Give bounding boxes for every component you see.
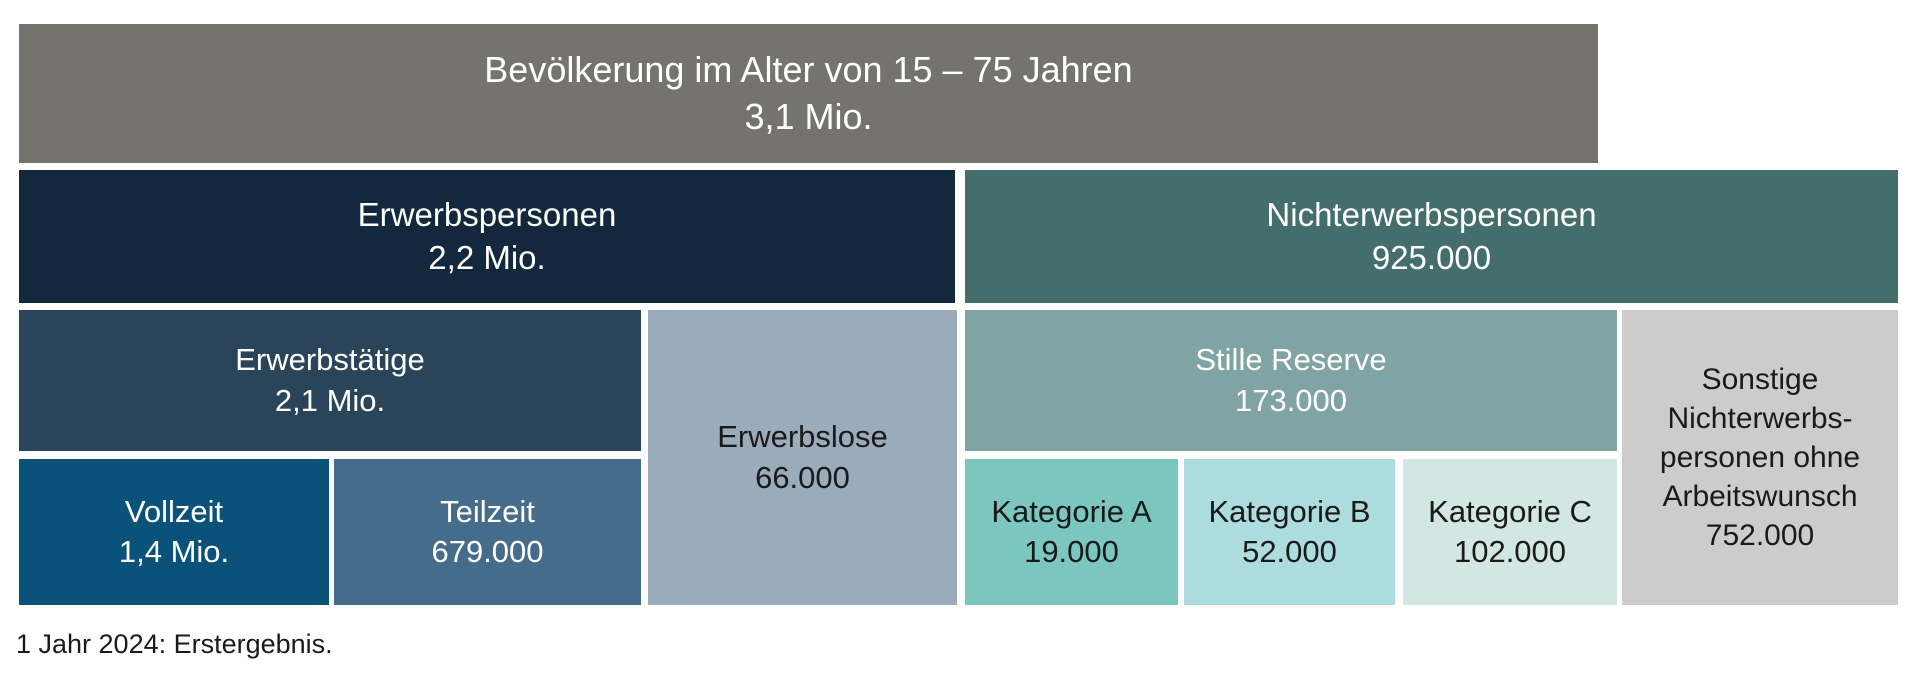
block-labour-force-value: 2,2 Mio.	[428, 237, 545, 280]
block-inactive-label: Nichterwerbspersonen	[1266, 194, 1596, 237]
block-category-b-label: Kategorie B	[1209, 492, 1371, 532]
block-population-label: Bevölkerung im Alter von 15 – 75 Jahren	[484, 47, 1132, 94]
block-parttime-label: Teilzeit	[440, 492, 535, 532]
block-inactive-value: 925.000	[1372, 237, 1491, 280]
block-category-c-label: Kategorie C	[1428, 492, 1592, 532]
chart-footnote: 1 Jahr 2024: Erstergebnis.	[16, 629, 333, 660]
block-category-a-label: Kategorie A	[991, 492, 1151, 532]
block-inactive: Nichterwerbspersonen 925.000	[965, 170, 1898, 303]
block-employed: Erwerbstätige 2,1 Mio.	[19, 310, 641, 451]
block-fulltime: Vollzeit 1,4 Mio.	[19, 459, 329, 605]
block-fulltime-label: Vollzeit	[125, 492, 223, 532]
block-other-inactive-label: Sonstige Nichterwerbs- personen ohne Arb…	[1660, 360, 1860, 516]
block-category-c-value: 102.000	[1454, 532, 1566, 572]
block-employed-label: Erwerbstätige	[235, 340, 425, 380]
block-category-a: Kategorie A 19.000	[965, 459, 1178, 605]
block-category-b: Kategorie B 52.000	[1184, 459, 1395, 605]
block-category-b-value: 52.000	[1242, 532, 1337, 572]
block-parttime: Teilzeit 679.000	[334, 459, 641, 605]
block-fulltime-value: 1,4 Mio.	[119, 532, 229, 572]
block-employed-value: 2,1 Mio.	[275, 381, 385, 421]
block-hidden-reserve: Stille Reserve 173.000	[965, 310, 1617, 451]
block-population-value: 3,1 Mio.	[744, 94, 872, 141]
block-labour-force: Erwerbspersonen 2,2 Mio.	[19, 170, 955, 303]
block-parttime-value: 679.000	[431, 532, 543, 572]
block-hidden-reserve-label: Stille Reserve	[1195, 340, 1386, 380]
block-unemployed-value: 66.000	[755, 458, 850, 498]
block-labour-force-label: Erwerbspersonen	[358, 194, 617, 237]
block-unemployed: Erwerbslose 66.000	[648, 310, 957, 605]
block-other-inactive-value: 752.000	[1706, 516, 1814, 555]
chart-canvas: Bevölkerung im Alter von 15 – 75 Jahren …	[0, 0, 1920, 692]
block-hidden-reserve-value: 173.000	[1235, 381, 1347, 421]
block-category-c: Kategorie C 102.000	[1403, 459, 1617, 605]
block-population: Bevölkerung im Alter von 15 – 75 Jahren …	[19, 24, 1598, 163]
block-category-a-value: 19.000	[1024, 532, 1119, 572]
block-other-inactive: Sonstige Nichterwerbs- personen ohne Arb…	[1622, 310, 1898, 605]
block-unemployed-label: Erwerbslose	[717, 417, 888, 457]
